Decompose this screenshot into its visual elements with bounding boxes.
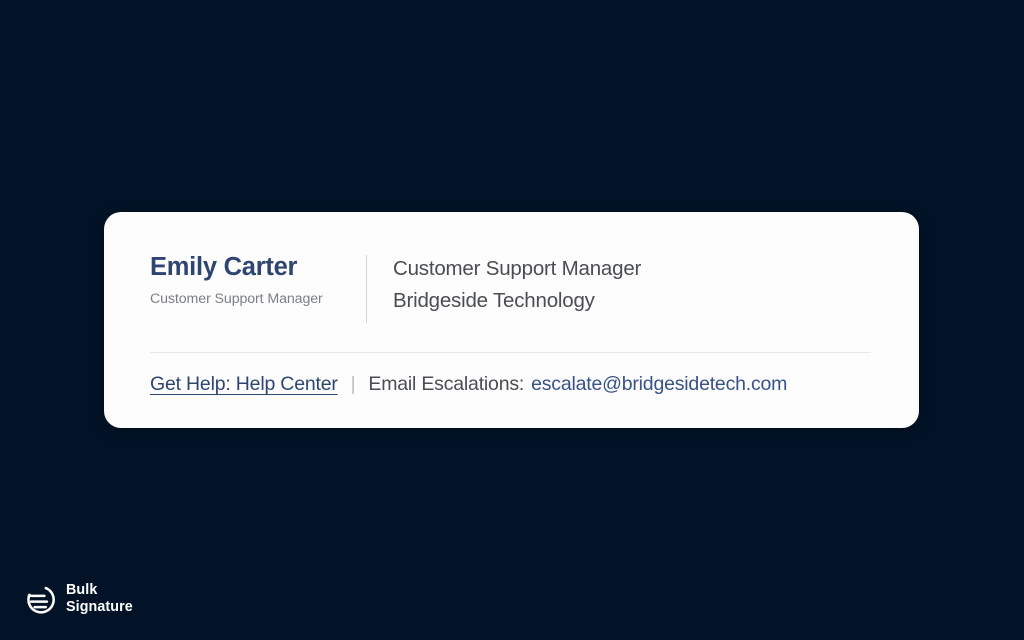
brand-wordmark-line2: Signature	[66, 599, 133, 616]
person-name: Emily Carter	[150, 253, 348, 282]
identity-row: Emily Carter Customer Support Manager Cu…	[150, 253, 887, 329]
brand-wordmark: Bulk Signature	[66, 582, 133, 616]
signature-card: Emily Carter Customer Support Manager Cu…	[104, 212, 919, 428]
identity-right-column: Customer Support Manager Bridgeside Tech…	[367, 253, 887, 318]
help-center-link[interactable]: Get Help: Help Center	[150, 373, 338, 396]
job-role-line: Customer Support Manager	[393, 253, 887, 285]
identity-left-column: Emily Carter Customer Support Manager	[150, 253, 366, 307]
contact-separator-pipe: |	[351, 374, 356, 396]
contact-row: Get Help: Help Center | Email Escalation…	[150, 373, 887, 396]
company-name-line: Bridgeside Technology	[393, 285, 887, 317]
escalation-label: Email Escalations:	[368, 373, 524, 396]
brand-watermark: Bulk Signature	[24, 582, 133, 616]
card-separator	[150, 352, 871, 353]
bulk-signature-logo-icon	[24, 583, 57, 616]
brand-wordmark-line1: Bulk	[66, 582, 133, 599]
escalation-email-link[interactable]: escalate@bridgesidetech.com	[531, 373, 787, 396]
person-subtitle: Customer Support Manager	[150, 291, 348, 307]
